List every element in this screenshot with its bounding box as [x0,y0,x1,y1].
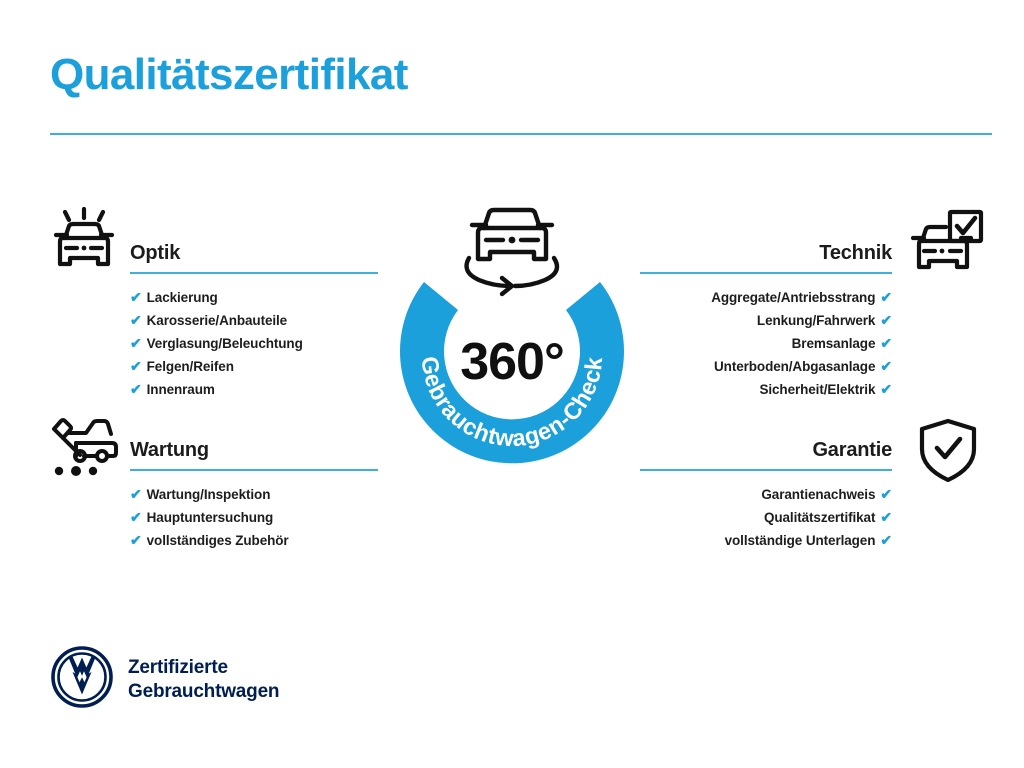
section-wartung-list: ✔Wartung/Inspektion ✔Hauptuntersuchung ✔… [130,483,378,552]
list-item-label: Sicherheit/Elektrik [759,382,875,397]
list-item: ✔Innenraum [130,378,378,401]
car-rotate-icon [453,196,571,300]
car-wrench-icon [46,413,122,479]
360-check-badge: Gebrauchtwagen-Check 360° [370,196,654,496]
section-garantie-title: Garantie [640,437,892,463]
volkswagen-logo [50,645,114,714]
list-item: Bremsanlage✔ [640,332,892,355]
list-item: vollständige Unterlagen✔ [640,529,892,552]
check-icon: ✔ [880,486,892,502]
brand-line-1: Zertifizierte [128,656,279,680]
list-item-label: Innenraum [147,382,215,397]
list-item: Qualitätszertifikat✔ [640,506,892,529]
check-icon: ✔ [880,509,892,525]
list-item: ✔Hauptuntersuchung [130,506,378,529]
check-icon: ✔ [880,532,892,548]
list-item-label: Karosserie/Anbauteile [147,313,287,328]
check-icon: ✔ [130,358,142,374]
section-technik-title: Technik [640,240,892,266]
check-icon: ✔ [880,358,892,374]
list-item: ✔Lackierung [130,286,378,309]
list-item-label: vollständiges Zubehör [147,533,289,548]
check-icon: ✔ [130,486,142,502]
list-item: Lenkung/Fahrwerk✔ [640,309,892,332]
section-wartung-divider [130,469,378,471]
section-garantie-header: Garantie [640,437,892,471]
list-item: ✔vollständiges Zubehör [130,529,378,552]
check-icon: ✔ [130,289,142,305]
list-item: Garantienachweis✔ [640,483,892,506]
list-item-label: Garantienachweis [761,487,875,502]
brand-line-2: Gebrauchtwagen [128,680,279,704]
check-icon: ✔ [880,312,892,328]
section-technik: Technik Aggregate/Antriebsstrang✔ Lenkun… [640,240,892,401]
list-item: Aggregate/Antriebsstrang✔ [640,286,892,309]
brand-lockup: Zertifizierte Gebrauchtwagen [50,645,279,714]
list-item-label: vollständige Unterlagen [725,533,876,548]
brand-text: Zertifizierte Gebrauchtwagen [128,656,279,704]
list-item-label: Wartung/Inspektion [147,487,271,502]
check-icon: ✔ [130,381,142,397]
section-wartung: Wartung ✔Wartung/Inspektion ✔Hauptunters… [130,437,378,552]
list-item-label: Aggregate/Antriebsstrang [711,290,875,305]
section-technik-list: Aggregate/Antriebsstrang✔ Lenkung/Fahrwe… [640,286,892,401]
list-item-label: Lackierung [147,290,218,305]
section-wartung-header: Wartung [130,437,378,471]
list-item-label: Felgen/Reifen [147,359,234,374]
shield-check-icon [916,416,980,484]
section-garantie: Garantie Garantienachweis✔ Qualitätszert… [640,437,892,552]
section-optik-list: ✔Lackierung ✔Karosserie/Anbauteile ✔Verg… [130,286,378,401]
check-icon: ✔ [880,289,892,305]
section-wartung-title: Wartung [130,437,378,463]
check-icon: ✔ [880,335,892,351]
section-optik-title: Optik [130,240,378,266]
check-icon: ✔ [130,532,142,548]
list-item-label: Bremsanlage [792,336,876,351]
page-title: Qualitätszertifikat [50,52,408,98]
section-optik-divider [130,272,378,274]
list-item: ✔Felgen/Reifen [130,355,378,378]
list-item: ✔Verglasung/Beleuchtung [130,332,378,355]
section-technik-header: Technik [640,240,892,274]
car-checkbox-icon [908,207,986,279]
check-icon: ✔ [880,381,892,397]
list-item-label: Qualitätszertifikat [764,510,875,525]
section-optik: Optik ✔Lackierung ✔Karosserie/Anbauteile… [130,240,378,401]
section-garantie-divider [640,469,892,471]
list-item-label: Verglasung/Beleuchtung [147,336,303,351]
check-icon: ✔ [130,312,142,328]
section-technik-divider [640,272,892,274]
list-item: ✔Karosserie/Anbauteile [130,309,378,332]
list-item-label: Unterboden/Abgasanlage [714,359,875,374]
list-item-label: Hauptuntersuchung [147,510,274,525]
car-shine-icon [48,205,120,277]
list-item-label: Lenkung/Fahrwerk [757,313,875,328]
badge-center-label: 360° [370,334,654,390]
list-item: Unterboden/Abgasanlage✔ [640,355,892,378]
certificate-page: Qualitätszertifikat Optik ✔Lackierung ✔K… [0,0,1024,768]
check-icon: ✔ [130,509,142,525]
title-divider [50,133,992,135]
list-item: ✔Wartung/Inspektion [130,483,378,506]
section-optik-header: Optik [130,240,378,274]
check-icon: ✔ [130,335,142,351]
list-item: Sicherheit/Elektrik✔ [640,378,892,401]
section-garantie-list: Garantienachweis✔ Qualitätszertifikat✔ v… [640,483,892,552]
